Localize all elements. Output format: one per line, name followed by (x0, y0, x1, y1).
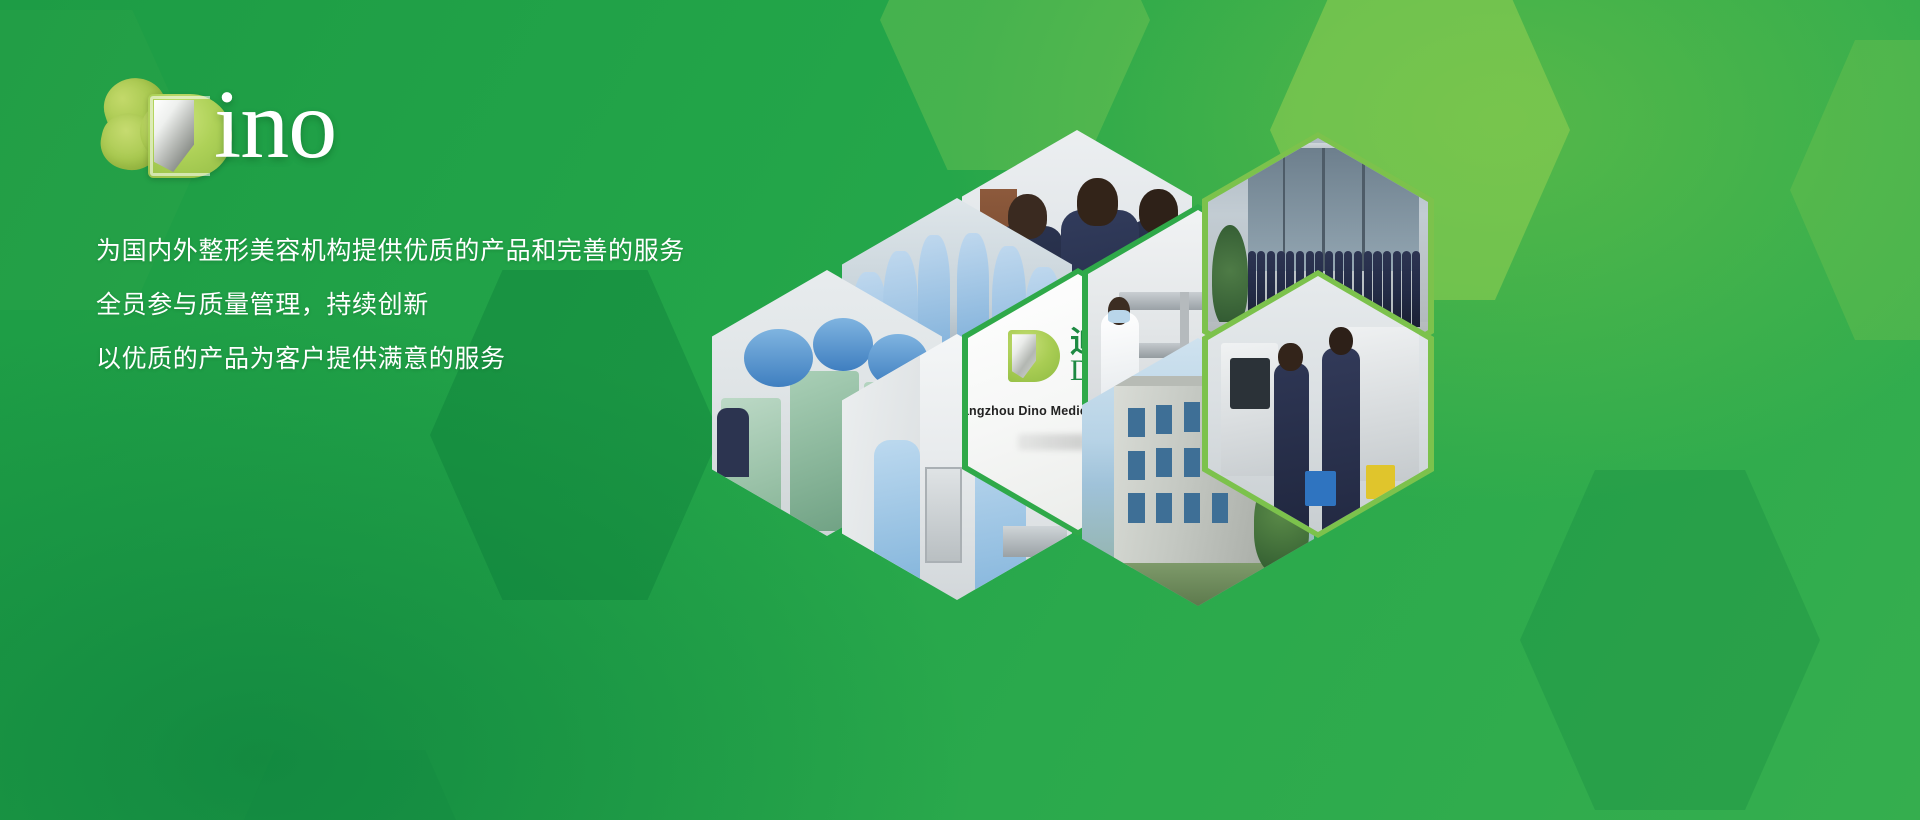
badge-d-icon (1008, 330, 1060, 382)
bg-hexagon-dark-bottomleft (200, 750, 500, 820)
hexagon-photo-collage: 迪诺® Dino Hangzhou Dino Medical Instrumen… (690, 120, 1920, 580)
brand-wordmark: ino (214, 76, 336, 174)
hero-banner: ino 为国内外整形美容机构提供优质的产品和完善的服务 全员参与质量管理，持续创… (0, 0, 1920, 820)
dino-logo[interactable]: ino (96, 70, 426, 180)
